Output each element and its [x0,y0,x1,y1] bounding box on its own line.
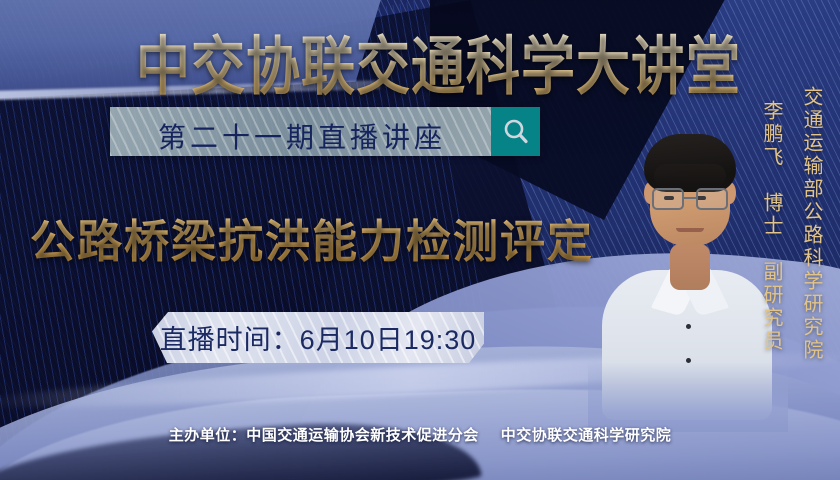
portrait-shirt-button-top [686,324,691,329]
series-banner: 第二十一期直播讲座 [110,107,540,156]
speaker-portrait [608,112,760,412]
speaker-organization: 交通运输部公路科学研究院 [797,86,826,362]
topic-title: 公路桥梁抗洪能力检测评定 [30,205,594,270]
search-icon[interactable] [491,107,540,156]
glasses-icon [652,188,728,210]
footer-prefix: 主办单位： [169,427,247,444]
footer-org-2: 中交协联交通科学研究院 [501,427,672,444]
live-time-badge: 直播时间：6月10日19:30 [152,312,484,363]
speaker-name-title: 李鹏飞 博士 副研究员 [757,100,786,353]
live-lecture-poster: 中交协联交通科学大讲堂 第二十一期直播讲座 公路桥梁抗洪能力检测评定 直播时间：… [0,0,840,480]
glasses-lens-left [652,188,684,210]
glasses-lens-right [696,188,728,210]
page-title: 中交协联交通科学大讲堂 [136,14,741,107]
glasses-bridge [684,197,696,199]
live-time-label: 直播时间：6月10日19:30 [152,312,484,363]
series-label: 第二十一期直播讲座 [158,116,446,156]
footer-org-1: 中国交通运输协会新技术促进分会 [246,427,479,444]
portrait-bottom-fade [588,362,788,432]
footer-organizers: 主办单位：中国交通运输协会新技术促进分会中交协联交通科学研究院 [0,424,840,445]
portrait-mouth [676,228,704,232]
portrait-neck [670,244,710,290]
